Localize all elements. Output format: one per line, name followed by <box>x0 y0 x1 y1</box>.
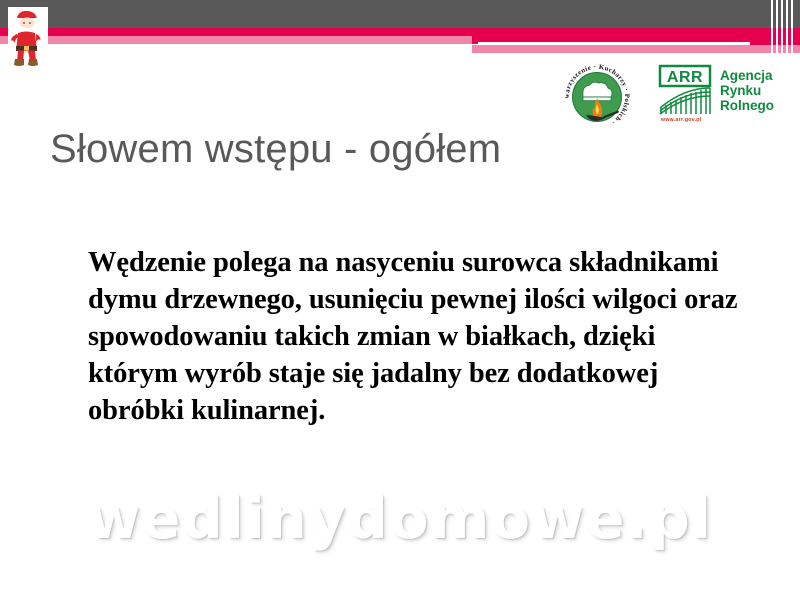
stowarzyszenie-kucharzy-polskich-logo: Stowarzyszenie · Kucharzy · Polskich · <box>560 60 634 134</box>
banner-vertical-stripe-6c <box>793 45 800 53</box>
banner-vertical-stripe-6b <box>793 28 800 45</box>
slide-canvas: Stowarzyszenie · Kucharzy · Polskich · A… <box>0 0 800 600</box>
banner-pink-bar-middle <box>472 45 645 53</box>
svg-text:Agencja: Agencja <box>720 68 773 83</box>
site-watermark: wedlinydomowe.pl <box>0 486 800 552</box>
svg-text:Rolnego: Rolnego <box>720 98 774 113</box>
svg-text:ARR: ARR <box>667 69 703 86</box>
banner-vertical-stripe-6 <box>793 0 800 28</box>
arr-logo-icon: ARR www.arr.gov.pl Agencja R <box>658 64 798 124</box>
santa-claus-image <box>6 7 46 69</box>
banner-crimson-bar-left <box>0 28 472 36</box>
chef-association-seal-icon: Stowarzyszenie · Kucharzy · Polskich · <box>560 60 634 134</box>
santa-claus-icon <box>6 7 46 69</box>
banner-gray-bar <box>0 0 800 28</box>
svg-text:Rynku: Rynku <box>720 83 761 98</box>
slide-title: Słowem wstępu - ogółem <box>50 126 750 172</box>
agencja-rynku-rolnego-logo: ARR www.arr.gov.pl Agencja R <box>658 64 798 124</box>
banner-pink-bar-left <box>0 36 472 44</box>
svg-text:www.arr.gov.pl: www.arr.gov.pl <box>660 117 702 123</box>
slide-body-paragraph: Wędzenie polega na nasyceniu surowca skł… <box>88 244 748 429</box>
